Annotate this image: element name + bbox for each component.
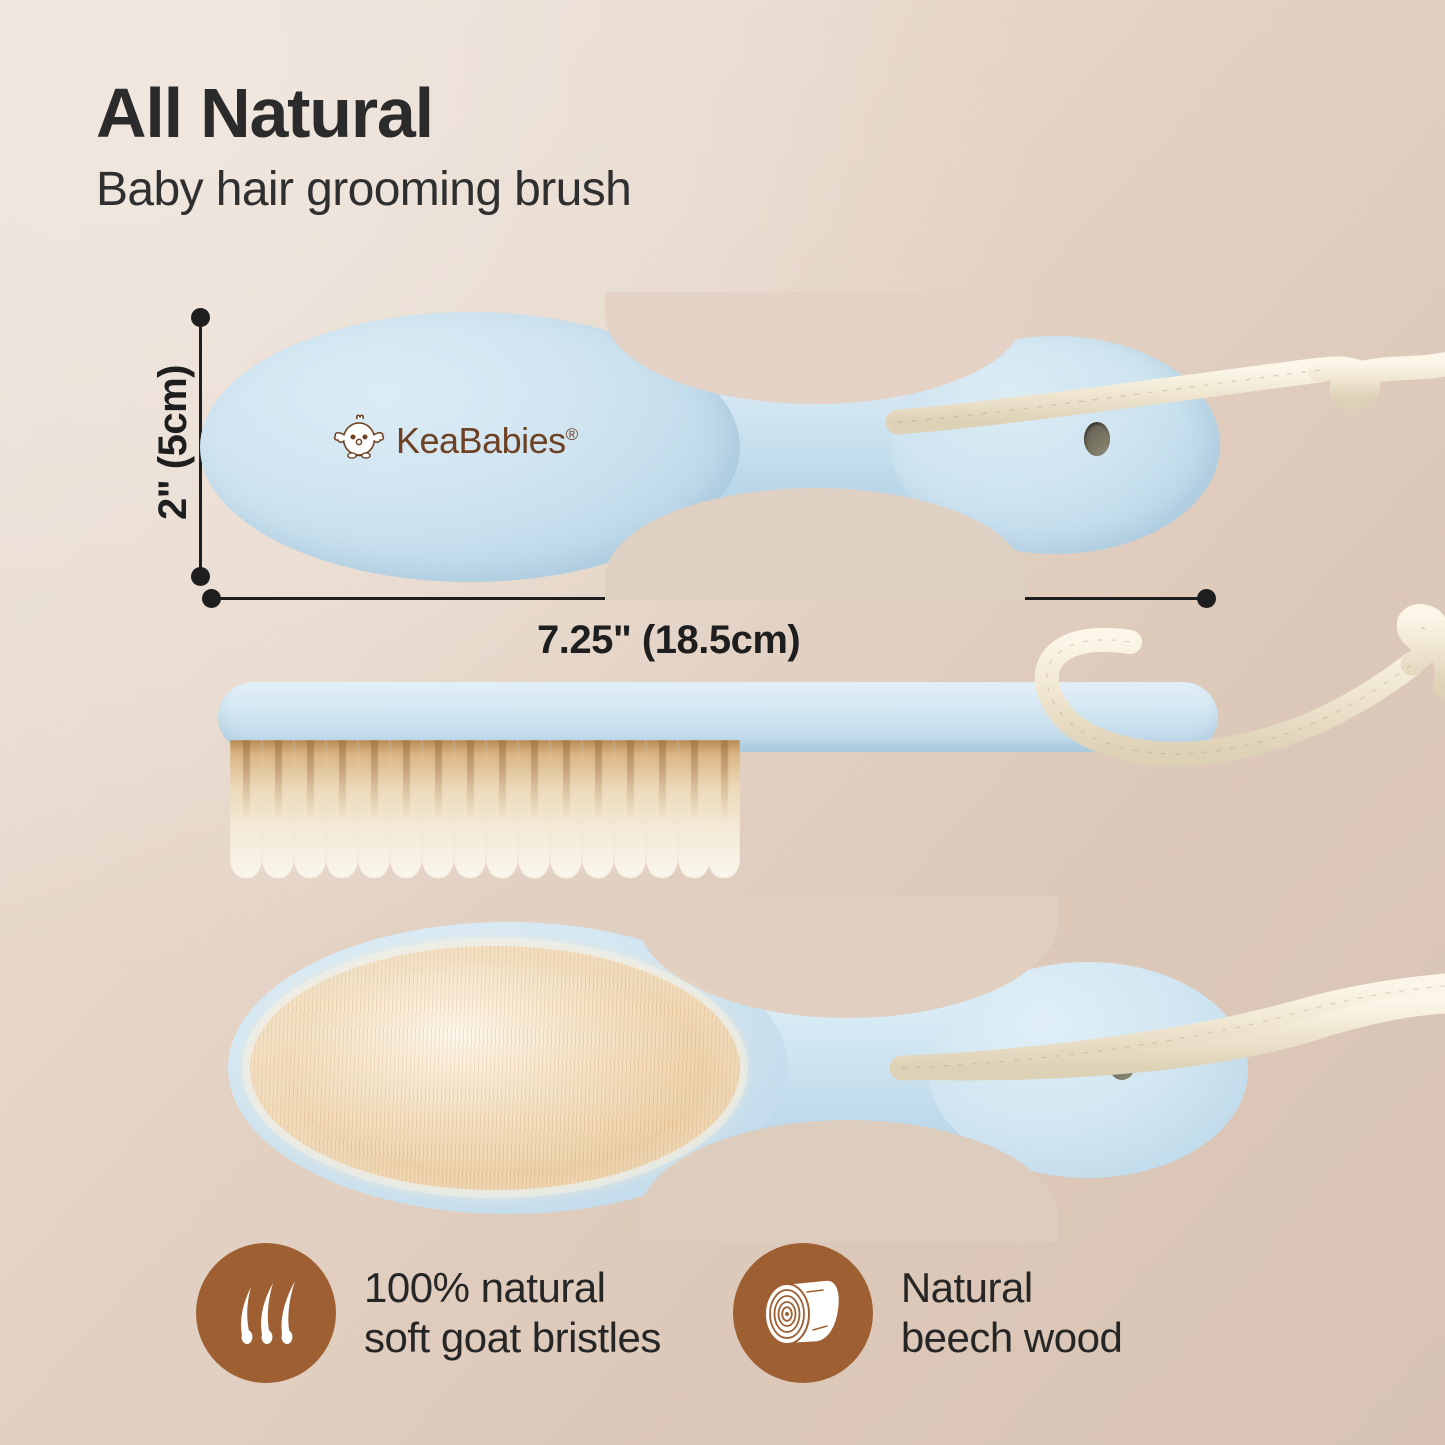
wood-log-icon <box>761 1272 845 1355</box>
brand-logo: KeaBabies® <box>332 412 578 469</box>
wood-badge <box>733 1243 873 1383</box>
feature-list: 100% natural soft goat bristles <box>196 1243 1376 1383</box>
bristles-icon <box>227 1273 305 1354</box>
feature-bristles-label: 100% natural soft goat bristles <box>364 1263 661 1362</box>
feature-wood-label: Natural beech wood <box>901 1263 1123 1362</box>
product-infographic: All Natural Baby hair grooming brush 2" … <box>0 0 1445 1445</box>
brand-name-wrapper: KeaBabies® <box>396 420 578 462</box>
brush2-bristle-row <box>230 740 740 880</box>
registered-trademark-mark: ® <box>566 425 578 444</box>
feature-wood: Natural beech wood <box>733 1243 1123 1383</box>
page-subtitle: Baby hair grooming brush <box>96 165 996 215</box>
chick-icon <box>332 412 386 469</box>
brand-name: KeaBabies <box>396 420 566 461</box>
width-dimension-label: 7.25" (18.5cm) <box>537 618 800 663</box>
header-block: All Natural Baby hair grooming brush <box>96 78 996 216</box>
bristles-badge <box>196 1243 336 1383</box>
hanging-rope-top <box>880 330 1445 480</box>
feature-bristles: 100% natural soft goat bristles <box>196 1243 661 1383</box>
width-endpoint-left-dot <box>202 589 221 608</box>
height-dimension-label: 2" (5cm) <box>151 365 196 520</box>
brush3-bristle-pad <box>250 946 740 1190</box>
hanging-rope-middle <box>1020 600 1445 830</box>
page-title: All Natural <box>96 78 996 149</box>
hanging-rope-bottom <box>880 960 1445 1150</box>
